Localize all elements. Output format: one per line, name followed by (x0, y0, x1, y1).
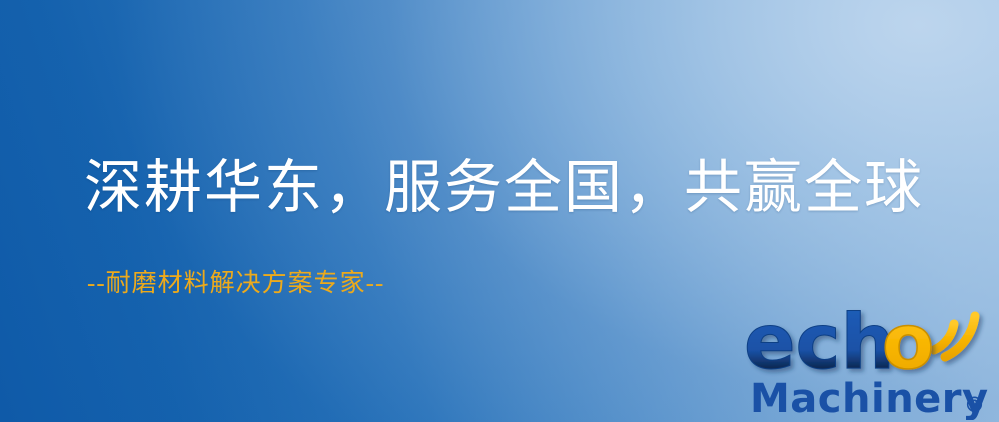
banner-subheadline: --耐磨材料解决方案专家-- (87, 268, 384, 300)
hero-banner: 深耕华东，服务全国，共赢全球 --耐磨材料解决方案专家-- (0, 0, 999, 422)
echo-wave-icon (934, 316, 975, 357)
logo-artwork: ech o Machinery ® (742, 294, 994, 420)
logo-o-text: o (882, 297, 934, 386)
logo-machinery-text: Machinery (750, 376, 989, 420)
banner-headline: 深耕华东，服务全国，共赢全球 (84, 152, 924, 224)
logo-registered-trademark-icon: ® (964, 393, 985, 417)
echo-machinery-logo[interactable]: ech o Machinery ® (742, 294, 994, 420)
logo-ech-text: ech (744, 297, 895, 386)
